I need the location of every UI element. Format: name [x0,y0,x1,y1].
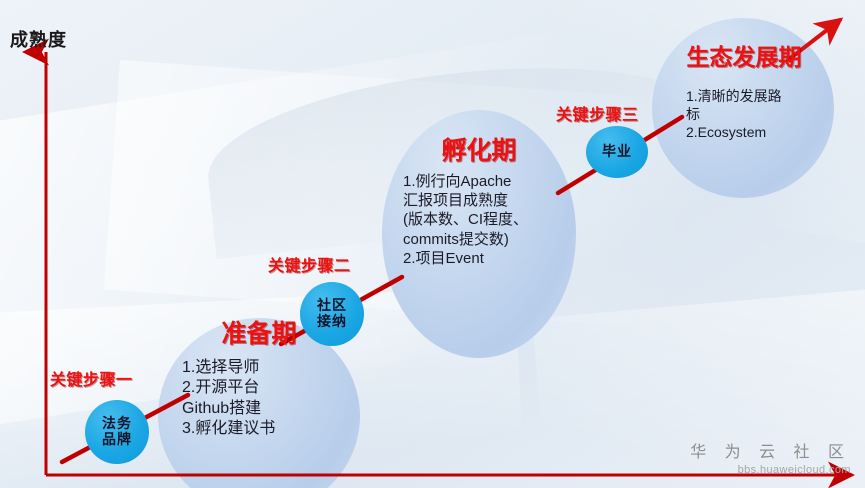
y-axis-label: 成熟度 [10,26,67,52]
milestone-circle-graduation[interactable]: 毕业 [586,126,648,178]
milestone-circle-community-acceptance[interactable]: 社区 接纳 [300,282,364,346]
watermark-brand: 华 为 云 社 区 [690,438,851,462]
watermark-url: bbs.huaweicloud.com [690,464,851,476]
key-step-label-one: 关键步骤一 [50,366,133,390]
slide-canvas: 成熟度 准备期 1.选择导师 2.开源平台 Github搭建 3.孵化建议书 孵… [0,0,865,488]
key-step-label-three: 关键步骤三 [556,101,639,125]
stage-title-incubation: 孵化期 [382,131,576,167]
watermark: 华 为 云 社 区 bbs.huaweicloud.com [690,438,851,476]
stage-body-ecosystem: 1.清晰的发展路 标 2.Ecosystem [686,88,838,142]
milestone-circle-legal-brand[interactable]: 法务 品牌 [85,400,149,464]
stage-body-preparation: 1.选择导师 2.开源平台 Github搭建 3.孵化建议书 [182,358,362,440]
stage-title-ecosystem: 生态发展期 [648,38,840,72]
stage-body-incubation: 1.例行向Apache 汇报项目成熟度 (版本数、CI程度、 commits提交… [403,172,593,268]
key-step-label-two: 关键步骤二 [268,252,351,276]
